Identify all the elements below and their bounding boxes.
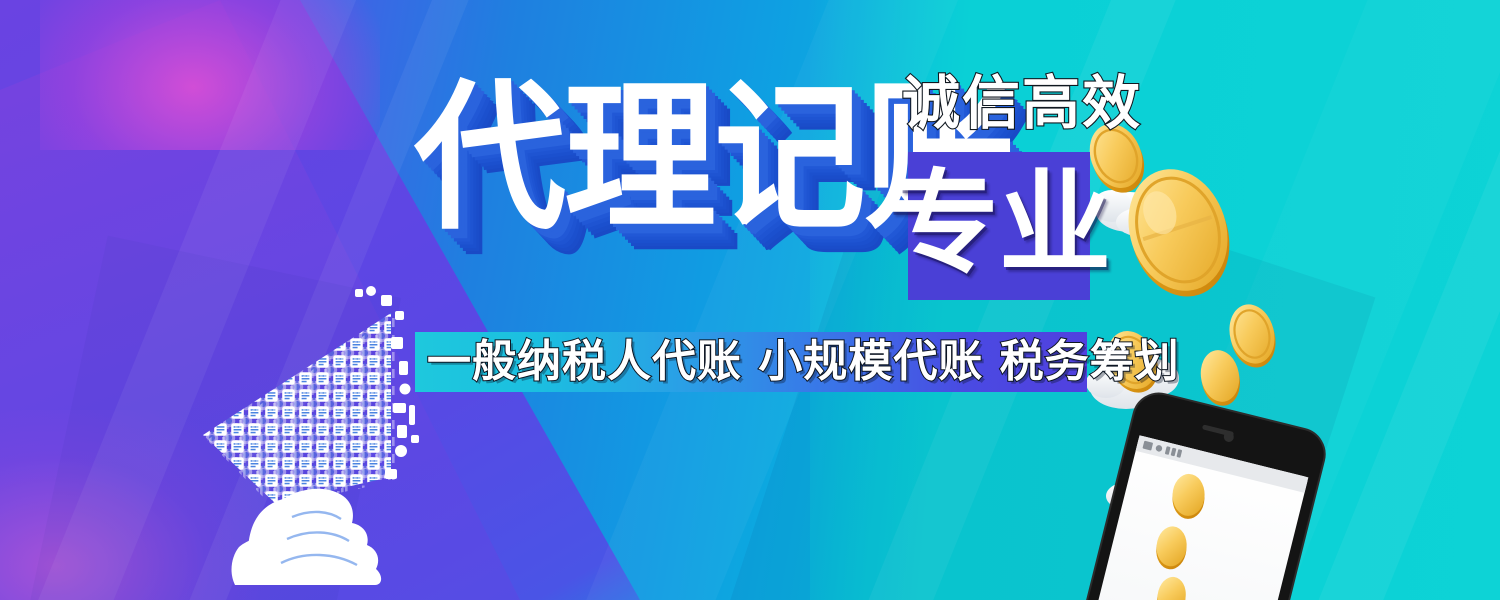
services-bar: 一般纳税人代账 小规模代账 税务筹划 — [415, 332, 1087, 392]
slogan-integrity-efficiency: 诚信高效 — [902, 74, 1142, 132]
badge-label: 专业 — [887, 168, 1111, 280]
status-badge: 专业 — [908, 152, 1090, 300]
megaphone-icon — [195, 285, 470, 585]
services-list-label: 一般纳税人代账 小规模代账 税务筹划 — [415, 340, 1180, 384]
banner-root: 代理记账 诚信高效 专业 一般纳税人代账 小规模代账 税务筹划 — [0, 0, 1500, 600]
